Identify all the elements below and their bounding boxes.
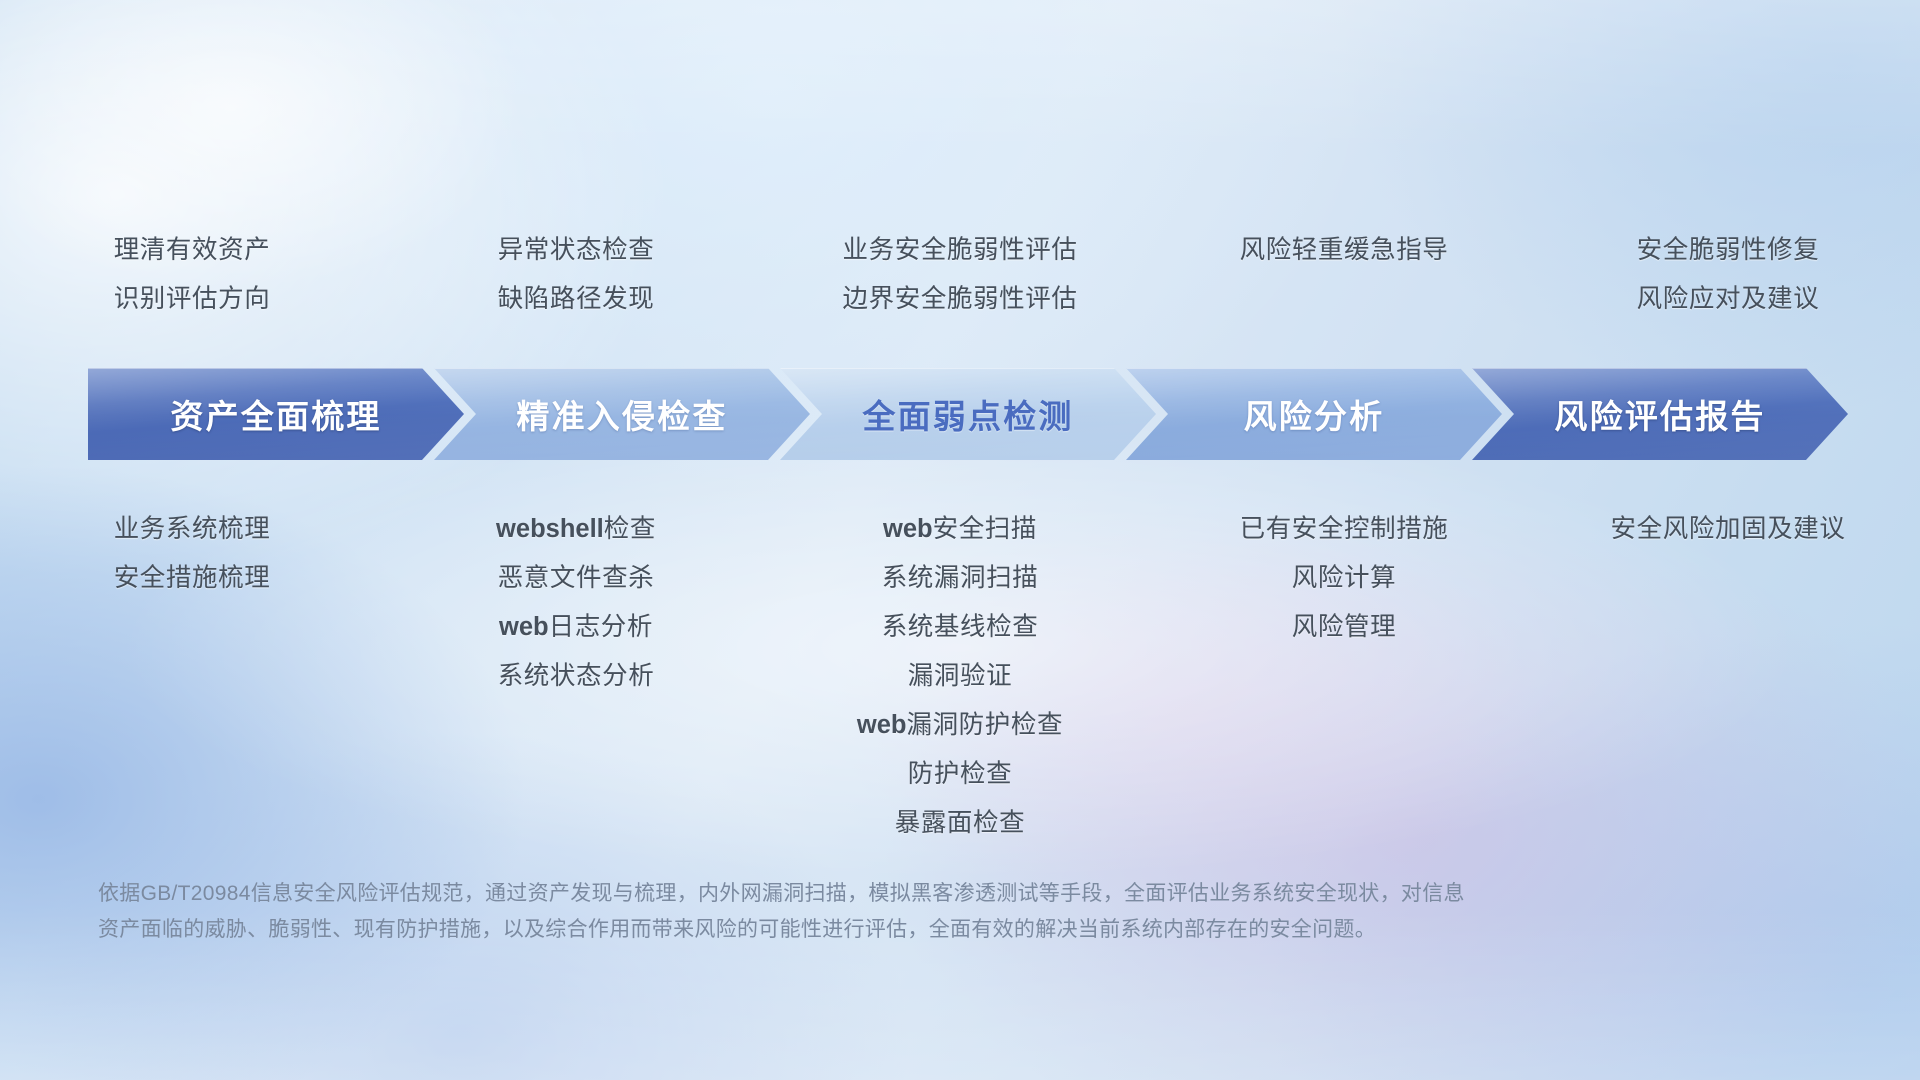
bottom-item: webshell检查 xyxy=(496,505,656,554)
bottom-column-risk-report: 安全风险加固及建议 xyxy=(1536,505,1920,848)
top-item: 异常状态检查 xyxy=(498,226,655,275)
top-column-asset-inventory: 理清有效资产 识别评估方向 xyxy=(0,226,384,324)
bottom-items-row: 业务系统梳理 安全措施梳理 webshell检查 恶意文件查杀 web日志分析 … xyxy=(0,505,1920,848)
bottom-item: 安全措施梳理 xyxy=(114,554,271,603)
bottom-item: 已有安全控制措施 xyxy=(1240,505,1449,554)
bottom-column-weakness-detection: web安全扫描 系统漏洞扫描 系统基线检查 漏洞验证 web漏洞防护检查 防护检… xyxy=(768,505,1152,848)
bottom-item: 风险管理 xyxy=(1292,603,1396,652)
stage-label: 风险评估报告 xyxy=(1554,390,1765,438)
top-item: 识别评估方向 xyxy=(114,275,271,324)
top-items-row: 理清有效资产 识别评估方向 异常状态检查 缺陷路径发现 业务安全脆弱性评估 边界… xyxy=(0,226,1920,324)
stage-chevron-risk-analysis[interactable]: 风险分析 xyxy=(1126,368,1502,460)
stage-label: 全面弱点检测 xyxy=(862,390,1073,438)
top-item: 风险轻重缓急指导 xyxy=(1240,226,1449,275)
top-item: 风险应对及建议 xyxy=(1637,275,1820,324)
top-item: 安全脆弱性修复 xyxy=(1637,226,1820,275)
stage-chevron-intrusion-check[interactable]: 精准入侵检查 xyxy=(434,368,810,460)
top-column-weakness-detection: 业务安全脆弱性评估 边界安全脆弱性评估 xyxy=(768,226,1152,324)
stage-chevron-asset-inventory[interactable]: 资产全面梳理 xyxy=(88,368,464,460)
stage-label: 风险分析 xyxy=(1244,390,1385,438)
bottom-item: 漏洞验证 xyxy=(908,652,1012,701)
bottom-item: web安全扫描 xyxy=(883,505,1037,554)
bottom-item: 系统基线检查 xyxy=(882,603,1039,652)
bottom-item: web日志分析 xyxy=(499,603,653,652)
top-item: 业务安全脆弱性评估 xyxy=(843,226,1078,275)
bottom-item: 系统漏洞扫描 xyxy=(882,554,1039,603)
bottom-column-risk-analysis: 已有安全控制措施 风险计算 风险管理 xyxy=(1152,505,1536,848)
bottom-item: 系统状态分析 xyxy=(498,652,655,701)
bottom-column-intrusion-check: webshell检查 恶意文件查杀 web日志分析 系统状态分析 xyxy=(384,505,768,848)
top-column-risk-report: 安全脆弱性修复 风险应对及建议 xyxy=(1536,226,1920,324)
top-column-risk-analysis: 风险轻重缓急指导 xyxy=(1152,226,1536,324)
stage-chevron-ribbon: 资产全面梳理 精准入侵检查 全面弱点检测 风险分析 风险评估报告 xyxy=(88,368,1848,460)
bottom-item: 业务系统梳理 xyxy=(114,505,271,554)
process-diagram: 理清有效资产 识别评估方向 异常状态检查 缺陷路径发现 业务安全脆弱性评估 边界… xyxy=(0,0,1920,1080)
bottom-item: 安全风险加固及建议 xyxy=(1611,505,1846,554)
top-item: 缺陷路径发现 xyxy=(498,275,655,324)
stage-label: 精准入侵检查 xyxy=(516,390,727,438)
footer-description: 依据GB/T20984信息安全风险评估规范，通过资产发现与梳理，内外网漏洞扫描，… xyxy=(98,876,1618,948)
stage-label: 资产全面梳理 xyxy=(170,390,381,438)
stage-chevron-risk-report[interactable]: 风险评估报告 xyxy=(1472,368,1848,460)
bottom-column-asset-inventory: 业务系统梳理 安全措施梳理 xyxy=(0,505,384,848)
top-item: 理清有效资产 xyxy=(114,226,271,275)
bottom-item: 恶意文件查杀 xyxy=(498,554,655,603)
footer-line-1: 依据GB/T20984信息安全风险评估规范，通过资产发现与梳理，内外网漏洞扫描，… xyxy=(98,876,1618,912)
footer-line-2: 资产面临的威胁、脆弱性、现有防护措施，以及综合作用而带来风险的可能性进行评估，全… xyxy=(98,912,1618,948)
bottom-item: web漏洞防护检查 xyxy=(857,701,1063,750)
top-item: 边界安全脆弱性评估 xyxy=(843,275,1078,324)
bottom-item: 防护检查 xyxy=(908,750,1012,799)
bottom-item: 风险计算 xyxy=(1292,554,1396,603)
stage-chevron-weakness-detection[interactable]: 全面弱点检测 xyxy=(780,368,1156,460)
top-column-intrusion-check: 异常状态检查 缺陷路径发现 xyxy=(384,226,768,324)
bottom-item: 暴露面检查 xyxy=(895,799,1026,848)
